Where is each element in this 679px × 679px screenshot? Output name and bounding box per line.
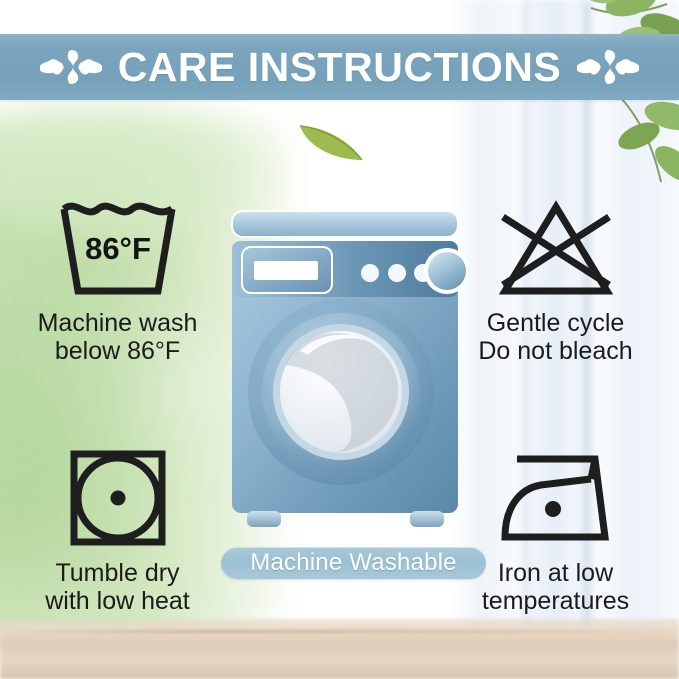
care-item-caption: Iron at low temperatures — [482, 559, 629, 615]
machine-foot — [410, 511, 444, 527]
table-edge-line — [0, 630, 679, 633]
fleur-de-lis-icon — [577, 45, 639, 89]
fleur-de-lis-icon — [40, 45, 102, 89]
care-item-gentle-cycle-no-bleach: Gentle cycle Do not bleach — [448, 196, 663, 365]
washing-machine-illustration — [222, 205, 468, 535]
machine-foot — [247, 511, 281, 527]
banner: CARE INSTRUCTIONS — [0, 34, 679, 100]
wash-tub-icon: 86°F — [54, 196, 182, 300]
care-item-caption: Gentle cycle Do not bleach — [478, 309, 632, 365]
page-title: CARE INSTRUCTIONS — [118, 47, 562, 88]
care-instructions-graphic: CARE INSTRUCTIONS 86°F Machi — [0, 0, 679, 679]
detergent-drawer-slot — [254, 261, 318, 280]
no-bleach-triangle-icon — [497, 196, 615, 300]
care-item-caption: Machine wash below 86°F — [38, 309, 198, 365]
wooden-table-surface — [0, 619, 679, 679]
care-item-tumble-dry: Tumble dry with low heat — [10, 446, 225, 615]
care-item-iron-low: Iron at low temperatures — [448, 446, 663, 615]
program-selector-knob-face — [428, 252, 466, 290]
tumble-dry-low-icon — [68, 446, 168, 550]
wash-temperature-value: 86°F — [85, 231, 151, 266]
machine-washable-badge-label: Machine Washable — [250, 551, 456, 575]
indicator-dot — [361, 264, 379, 282]
floating-green-leaf — [296, 116, 366, 164]
machine-washable-badge: Machine Washable — [221, 547, 486, 579]
care-item-caption: Tumble dry with low heat — [45, 559, 190, 615]
care-item-machine-wash: 86°F Machine wash below 86°F — [10, 196, 225, 365]
machine-top-lid — [232, 211, 458, 237]
indicator-dot — [388, 264, 406, 282]
iron-low-heat-icon — [495, 446, 617, 550]
